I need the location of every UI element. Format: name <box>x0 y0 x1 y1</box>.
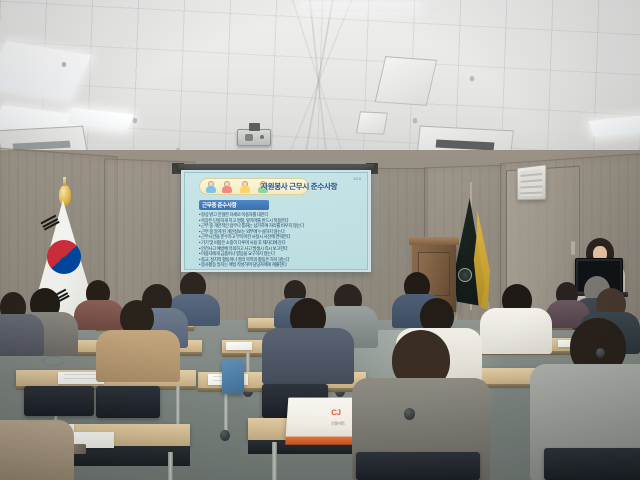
slide-bullet: • 봉사활동 일지는 매일 작성하여 담당자에게 제출한다 <box>199 262 357 267</box>
slide-bullet: • 기기 및 비품은 소중히 다루며 사용 후 제자리에 둔다 <box>199 240 357 245</box>
projector-indicator-icon <box>260 135 264 139</box>
attendee-torso <box>0 314 44 356</box>
sprinkler-head-icon <box>133 118 137 122</box>
sprinkler-head-icon <box>413 118 417 122</box>
ceiling-perspective-lines <box>0 0 640 162</box>
ceiling-projector <box>237 129 271 146</box>
chair-caster <box>404 408 415 420</box>
attendee-torso <box>74 300 124 330</box>
slide-bullet: • 근무시간을 준수하고 부득이한 사정시 사전에 연락한다 <box>199 234 357 239</box>
attendee-torso <box>96 330 180 382</box>
ceiling-light-panel <box>299 2 420 12</box>
projection-screen: 2/15 자원봉사 근무시 준수사항 근무중 준수사항 • 항상 밝고 친절한 … <box>181 170 371 272</box>
chair[interactable] <box>96 386 160 418</box>
slide-bullet: • 안전사고 예방에 유의하고 사고 발생시 즉시 보고한다 <box>199 246 357 251</box>
wall-mounted-speaker <box>517 164 547 200</box>
slide-bullet: • 종교, 정치적 활동이나 영리 목적의 활동은 하지 않는다 <box>199 257 357 262</box>
attendee-torso <box>0 420 74 480</box>
slide-bullet: • 근무 중 알게 된 개인정보는 외부에 누설하지 않는다 <box>199 229 357 234</box>
door-handle-icon[interactable] <box>571 241 575 255</box>
cartoon-child-icon <box>206 181 216 193</box>
handout-paper <box>226 342 252 350</box>
sprinkler-head-icon <box>62 62 66 66</box>
table-leg <box>224 388 228 434</box>
sprinkler-head-icon <box>470 76 474 80</box>
chair[interactable] <box>356 452 480 480</box>
slide-bullet-list: • 항상 밝고 친절한 자세로 이용자를 대한다 • 복장은 단정하게 하고 명… <box>199 212 357 268</box>
slide-title: 자원봉사 근무시 준수사항 <box>261 179 365 194</box>
chair-caster <box>596 348 605 358</box>
cartoon-child-icon <box>222 181 232 193</box>
cartoon-child-icon <box>240 181 250 193</box>
tote-bag <box>222 360 244 394</box>
projector-lens-icon <box>245 134 253 141</box>
table-leg <box>168 452 173 480</box>
seminar-room-photo: 2/15 자원봉사 근무시 준수사항 근무중 준수사항 • 항상 밝고 친절한 … <box>0 0 640 480</box>
air-vent <box>375 56 438 106</box>
table-caster <box>220 430 230 441</box>
presentation-slide: 2/15 자원봉사 근무시 준수사항 근무중 준수사항 • 항상 밝고 친절한 … <box>184 172 368 270</box>
slide-bullet: • 이용자에게 금품이나 향응을 요구하지 않는다 <box>199 251 357 256</box>
attendee-torso <box>262 328 354 384</box>
slide-subheading: 근무중 준수사항 <box>199 200 269 210</box>
flag-emblem-icon <box>458 268 472 282</box>
flag-finial-icon <box>59 185 71 205</box>
chair[interactable] <box>544 448 640 480</box>
table-leg <box>272 442 277 480</box>
slide-bullet: • 근무 중 개인적인 용무나 통화는 삼가하며 자리를 비우지 않는다 <box>199 223 357 228</box>
ceiling <box>0 0 640 162</box>
reading-glasses <box>42 356 64 366</box>
slide-bullet: • 복장은 단정하게 하고 명찰, 앞치마를 반드시 착용한다 <box>199 218 357 223</box>
air-vent <box>356 111 388 134</box>
podium-top-surface <box>409 237 459 245</box>
slide-bullet: • 항상 밝고 친절한 자세로 이용자를 대한다 <box>199 212 357 217</box>
attendee-torso <box>480 308 552 354</box>
chair[interactable] <box>24 386 94 416</box>
